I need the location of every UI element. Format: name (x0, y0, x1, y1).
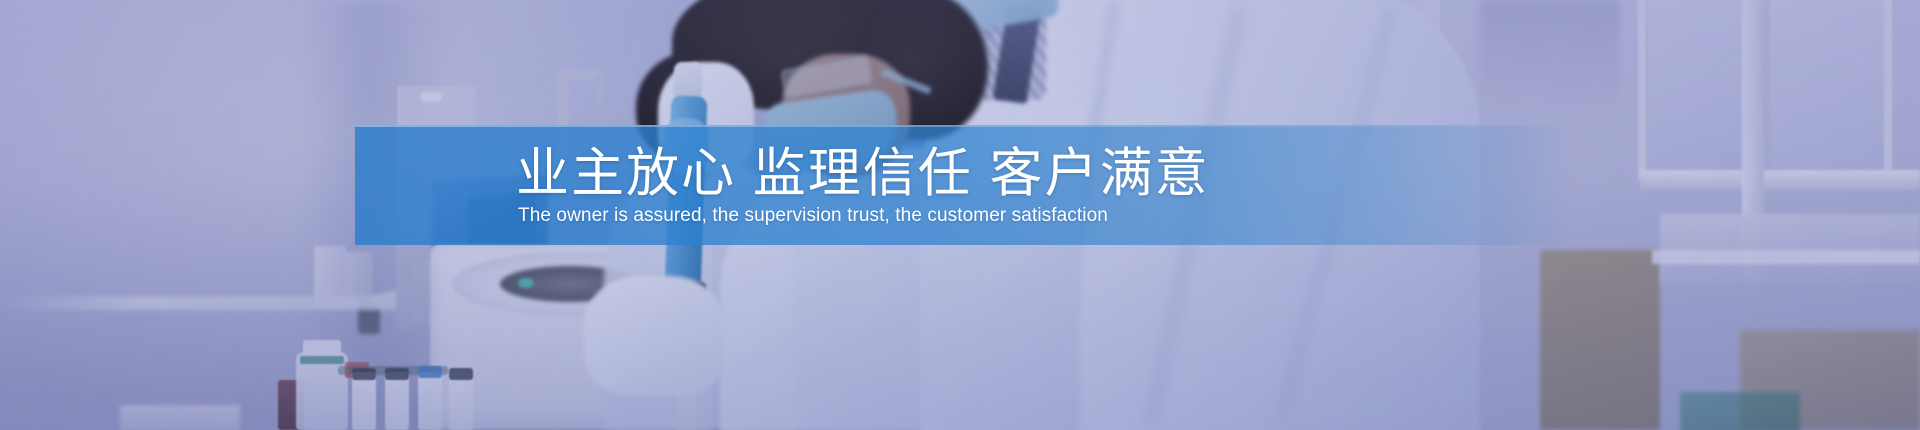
banner-subline: The owner is assured, the supervision tr… (518, 202, 1108, 231)
headline-band-top-edge (355, 125, 1570, 127)
hero-banner: 业主放心 监理信任 客户满意 The owner is assured, the… (0, 0, 1920, 430)
banner-headline: 业主放心 监理信任 客户满意 (516, 146, 1209, 202)
